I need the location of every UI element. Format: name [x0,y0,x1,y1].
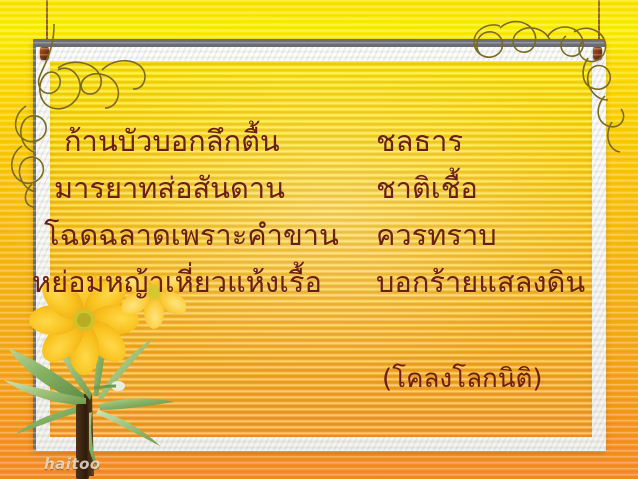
poem-line-1: ก้านบัวบอกลึกตื้น ชลธาร [0,118,638,165]
slide-canvas: ก้านบัวบอกลึกตื้น ชลธาร มารยาทส่อสันดาน … [0,0,638,479]
poem-line-4-first-hemistich: หย่อมหญ้าเหี่ยวแห้งเรื้อ [32,259,376,306]
poem-attribution: (โคลงโลกนิติ) [0,362,638,396]
poem-block: ก้านบัวบอกลึกตื้น ชลธาร มารยาทส่อสันดาน … [0,118,638,306]
poem-line-3-second-hemistich: ควรทราบ [376,212,497,259]
poem-line-2-first-hemistich: มารยาทส่อสันดาน [54,165,376,212]
poem-line-2-second-hemistich: ชาติเชื้อ [376,165,478,212]
poem-line-3: โฉดฉลาดเพราะคำขาน ควรทราบ [0,212,638,259]
poem-line-1-first-hemistich: ก้านบัวบอกลึกตื้น [64,118,376,165]
nail-right [593,47,602,60]
nail-left [40,47,49,60]
poem-line-3-first-hemistich: โฉดฉลาดเพราะคำขาน [44,212,376,259]
poem-line-1-second-hemistich: ชลธาร [376,118,463,165]
poem-line-4: หย่อมหญ้าเหี่ยวแห้งเรื้อ บอกร้ายแสลงดิน [0,259,638,306]
poem-line-2: มารยาทส่อสันดาน ชาติเชื้อ [0,165,638,212]
watermark-label: haitoo [44,455,101,473]
poem-line-4-second-hemistich: บอกร้ายแสลงดิน [376,259,585,306]
